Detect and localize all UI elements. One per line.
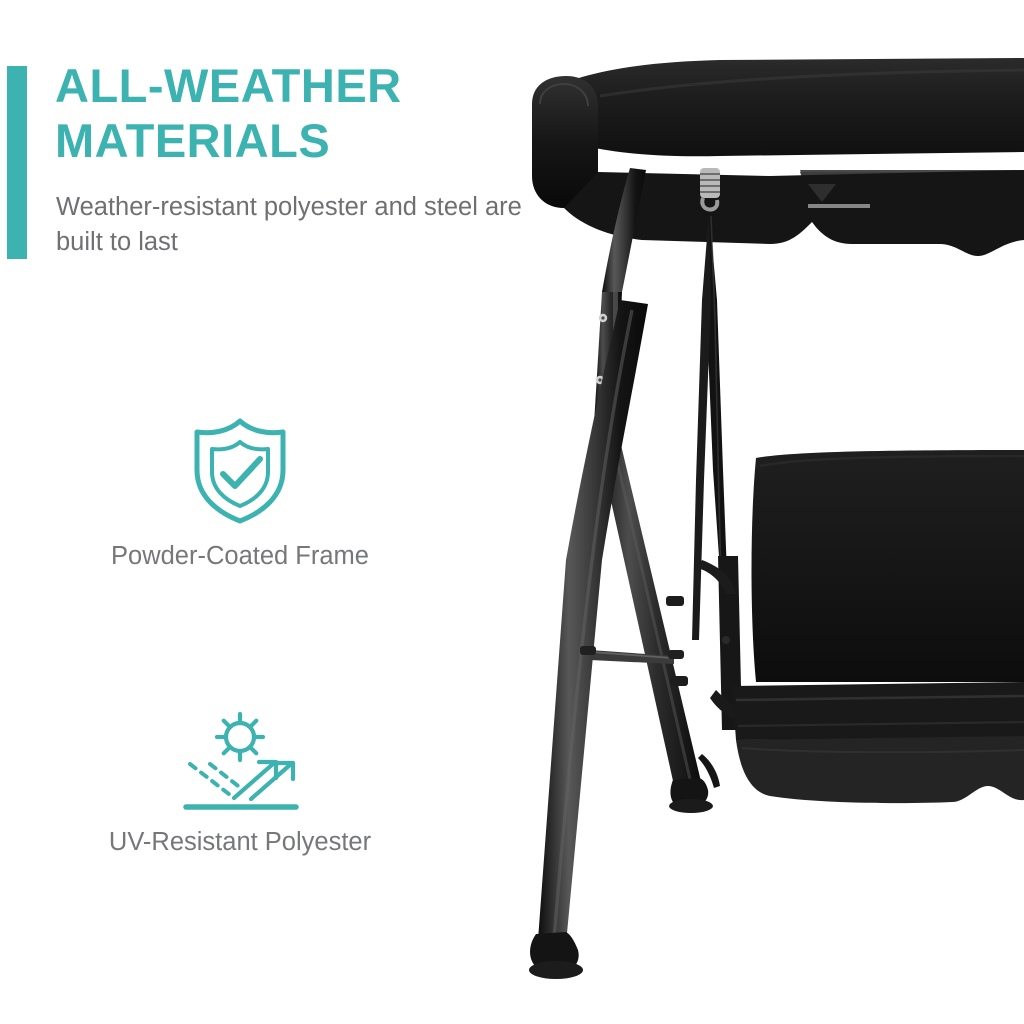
product-photo	[470, 0, 1024, 1024]
feature-uv-resistant-polyester: UV-Resistant Polyester	[70, 712, 410, 860]
accent-bar	[7, 66, 27, 259]
seat-back-cushion	[752, 450, 1024, 682]
canopy-top	[532, 58, 1024, 256]
marketing-image: ALL-WEATHER MATERIALS Weather-resistant …	[0, 0, 1024, 1024]
page-title: ALL-WEATHER MATERIALS	[55, 58, 525, 169]
uv-reflect-icon	[176, 712, 304, 812]
feature-label: UV-Resistant Polyester	[70, 826, 410, 860]
frame-leg-front	[529, 300, 648, 979]
page-subtitle: Weather-resistant polyester and steel ar…	[56, 190, 526, 260]
shield-check-icon	[181, 414, 299, 526]
foot-cap	[529, 932, 583, 979]
feature-powder-coated-frame: Powder-Coated Frame	[70, 414, 410, 574]
seat-skirt	[736, 736, 1024, 803]
patio-swing-chair	[470, 0, 1024, 1024]
seat-cushion	[732, 682, 1024, 740]
foot-cap	[669, 778, 713, 813]
feature-label: Powder-Coated Frame	[70, 540, 410, 574]
